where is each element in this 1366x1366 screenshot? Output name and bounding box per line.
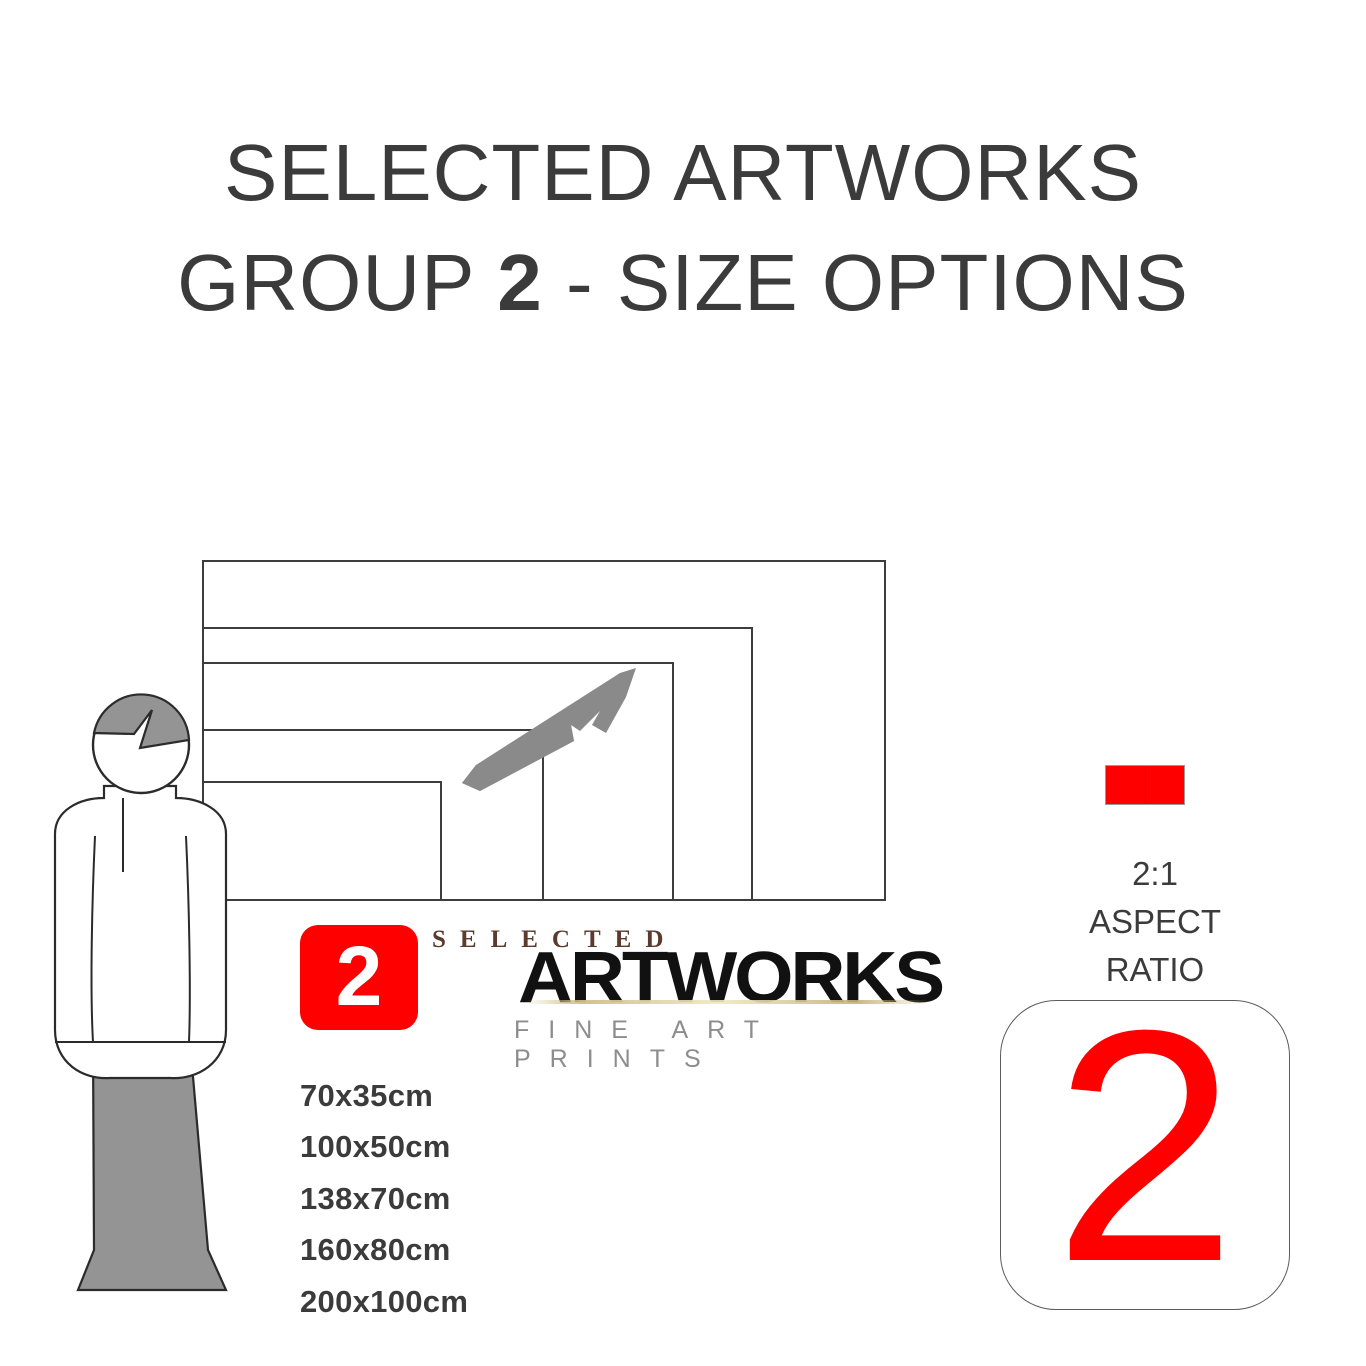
person-silhouette-icon	[48, 690, 288, 1310]
size-options-list: 70x35cm 100x50cm 138x70cm 160x80cm 200x1…	[300, 1070, 620, 1327]
title-line-2-suffix: - SIZE OPTIONS	[543, 238, 1189, 327]
title-line-2-prefix: GROUP	[177, 238, 497, 327]
logo-badge-number: 2	[336, 934, 383, 1018]
size-option-3: 138x70cm	[300, 1173, 620, 1224]
group-tile-number: 2	[1053, 981, 1237, 1311]
size-option-5: 200x100cm	[300, 1276, 620, 1327]
diagonal-arrow-icon	[440, 655, 650, 800]
title-line-2: GROUP 2 - SIZE OPTIONS	[0, 228, 1366, 338]
logo-tagline: FINE ART PRINTS	[514, 1016, 940, 1074]
title-line-1: SELECTED ARTWORKS	[0, 118, 1366, 228]
swatch-divider	[1145, 766, 1146, 804]
group-number-tile: 2	[1000, 1000, 1290, 1310]
aspect-ratio-value: 2:1	[1030, 850, 1280, 898]
brand-logo: 2 SELECTED ARTWORKS FINE ART PRINTS	[300, 920, 940, 1050]
size-option-2: 100x50cm	[300, 1121, 620, 1172]
page-title: SELECTED ARTWORKS GROUP 2 - SIZE OPTIONS	[0, 118, 1366, 339]
logo-group-badge: 2	[300, 925, 418, 1030]
logo-distress-streak	[525, 1000, 930, 1004]
aspect-ratio-swatch-icon	[1105, 765, 1185, 805]
aspect-label-line1: ASPECT	[1030, 898, 1280, 946]
size-option-4: 160x80cm	[300, 1224, 620, 1275]
size-option-1: 70x35cm	[300, 1070, 620, 1121]
poster-canvas: SELECTED ARTWORKS GROUP 2 - SIZE OPTIONS	[0, 0, 1366, 1366]
title-group-number: 2	[497, 238, 543, 327]
